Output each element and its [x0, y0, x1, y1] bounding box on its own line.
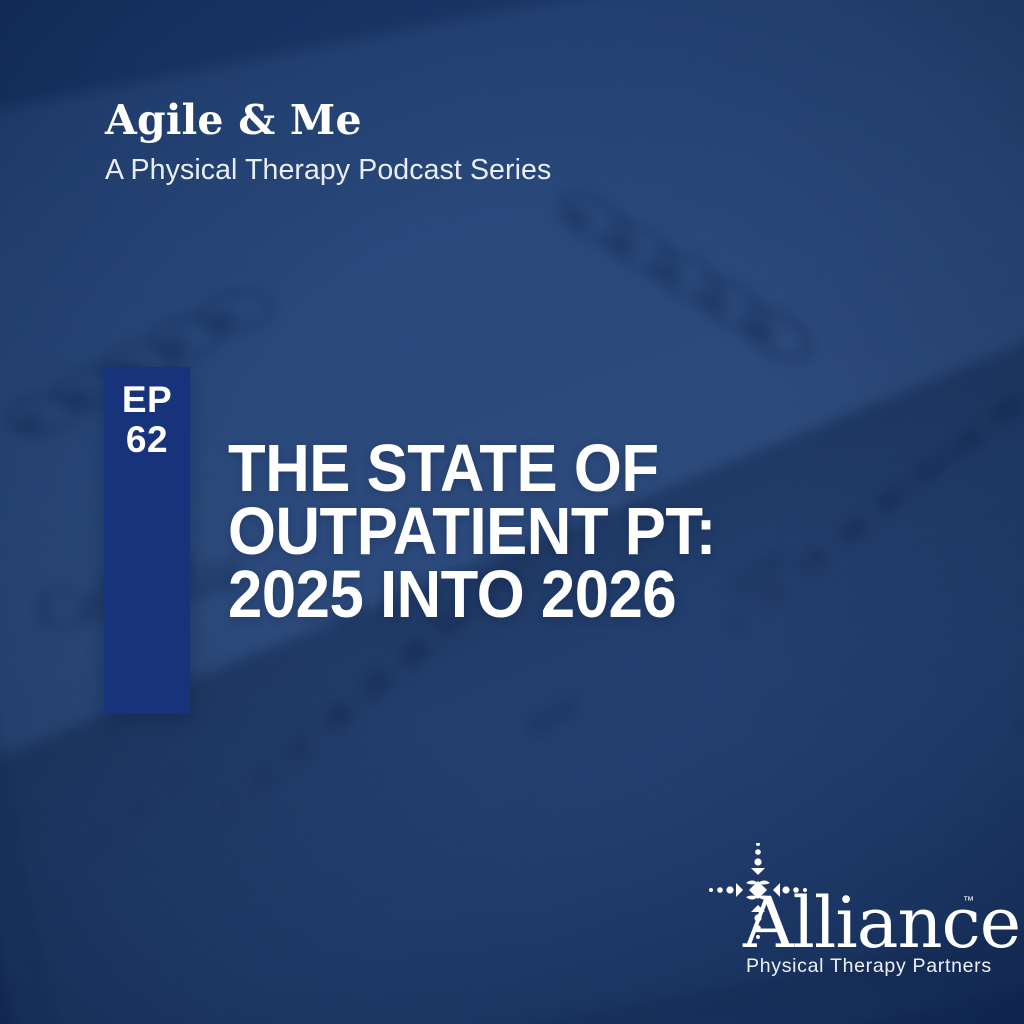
episode-title: THE STATE OF OUTPATIENT PT: 2025 INTO 20…	[228, 437, 716, 626]
episode-title-line-1: THE STATE OF	[228, 437, 716, 500]
show-header: Agile & Me A Physical Therapy Podcast Se…	[105, 99, 551, 187]
episode-title-line-3: 2025 INTO 2026	[228, 563, 716, 626]
show-subtitle: A Physical Therapy Podcast Series	[105, 153, 551, 187]
alliance-tagline: Physical Therapy Partners	[746, 955, 992, 978]
episode-number-badge: EP 62	[104, 367, 190, 714]
alliance-logo: Alliance ™ Physical Therapy Partners	[705, 843, 975, 988]
episode-title-line-2: OUTPATIENT PT:	[228, 500, 716, 563]
trademark-symbol: ™	[963, 895, 974, 907]
episode-number: 62	[104, 420, 190, 460]
podcast-cover-art: Calendar May June Octo 1 8 15 22 29 2 9 …	[0, 0, 1024, 1024]
alliance-wordmark: Alliance	[743, 888, 1020, 958]
episode-label: EP	[104, 380, 190, 420]
show-title: Agile & Me	[105, 99, 551, 142]
